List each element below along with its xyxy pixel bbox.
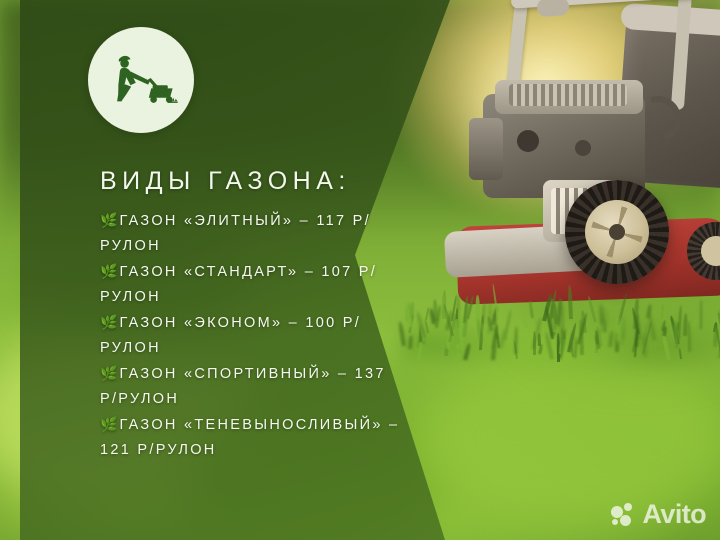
leaf-sprout-icon: 🌿 [100, 416, 117, 432]
mower-bolt [517, 130, 539, 152]
list-item-label: ГАЗОН «СПОРТИВНЫЙ» – 137 Р/РУЛОН [100, 366, 386, 407]
list-item-label: ГАЗОН «СТАНДАРТ» – 107 Р/РУЛОН [100, 264, 377, 305]
avito-watermark: Avito [611, 501, 707, 528]
lawn-mower-person-icon [104, 50, 178, 110]
mower-bolt [575, 140, 591, 156]
list-item-label: ГАЗОН «ЭЛИТНЫЙ» – 117 Р/РУЛОН [100, 213, 371, 254]
listing-image: ВИДЫ ГАЗОНА: 🌿ГАЗОН «ЭЛИТНЫЙ» – 117 Р/РУ… [0, 0, 720, 540]
list-item: 🌿ГАЗОН «СПОРТИВНЫЙ» – 137 Р/РУЛОН [100, 361, 400, 412]
list-item-label: ГАЗОН «ТЕНЕВЫНОСЛИВЫЙ» – 121 Р/РУЛОН [100, 417, 399, 458]
logo-badge [88, 27, 194, 133]
lawn-mower [425, 0, 720, 324]
offer-content: ВИДЫ ГАЗОНА: 🌿ГАЗОН «ЭЛИТНЫЙ» – 117 Р/РУ… [100, 168, 400, 463]
leaf-sprout-icon: 🌿 [100, 314, 117, 330]
list-item: 🌿ГАЗОН «ТЕНЕВЫНОСЛИВЫЙ» – 121 Р/РУЛОН [100, 412, 400, 463]
leaf-sprout-icon: 🌿 [100, 263, 117, 279]
mower-muffler [469, 118, 503, 180]
avito-dots-icon [611, 503, 637, 527]
avito-wordmark: Avito [643, 501, 707, 528]
mower-hub-center [609, 224, 625, 240]
lawn-types-list: 🌿ГАЗОН «ЭЛИТНЫЙ» – 117 Р/РУЛОН🌿ГАЗОН «СТ… [100, 208, 400, 463]
list-item: 🌿ГАЗОН «СТАНДАРТ» – 107 Р/РУЛОН [100, 259, 400, 310]
list-item: 🌿ГАЗОН «ЭЛИТНЫЙ» – 117 Р/РУЛОН [100, 208, 400, 259]
leaf-sprout-icon: 🌿 [100, 365, 117, 381]
page-title: ВИДЫ ГАЗОНА: [100, 168, 400, 196]
mower-handle-knob [536, 0, 569, 17]
list-item-label: ГАЗОН «ЭКОНОМ» – 100 Р/РУЛОН [100, 315, 361, 356]
mower-engine-fins [509, 84, 627, 106]
list-item: 🌿ГАЗОН «ЭКОНОМ» – 100 Р/РУЛОН [100, 310, 400, 361]
leaf-sprout-icon: 🌿 [100, 212, 117, 228]
